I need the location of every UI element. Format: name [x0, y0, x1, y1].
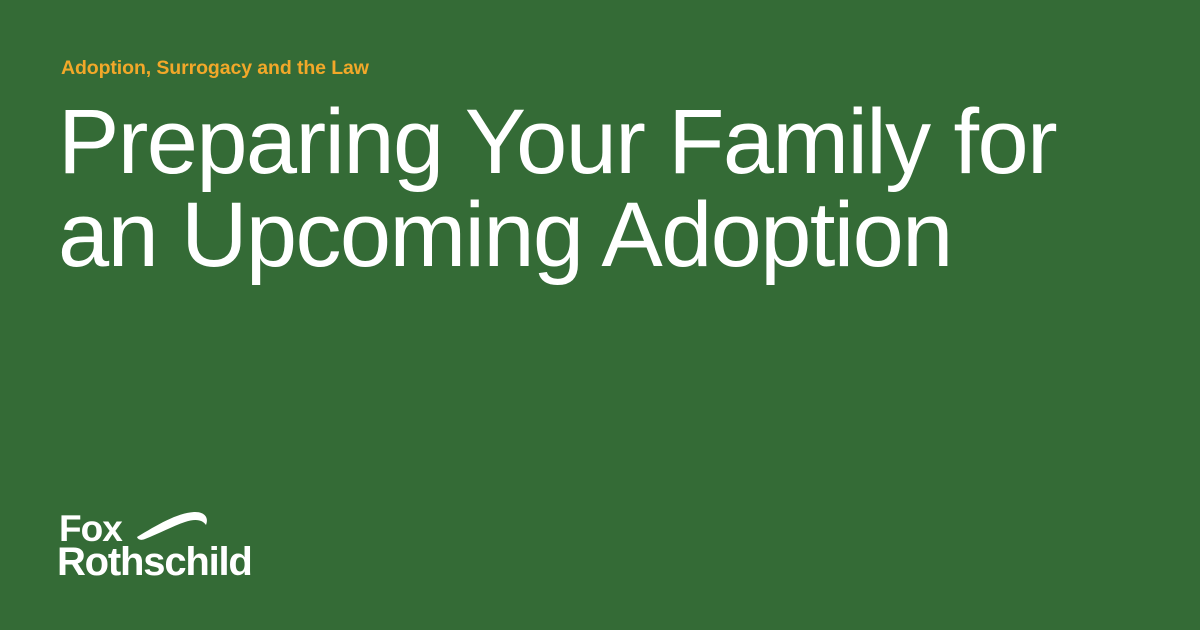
- eyebrow-category-label: Adoption, Surrogacy and the Law: [61, 58, 369, 79]
- fox-rothschild-logo: Fox Rothschild: [59, 503, 319, 579]
- page-title: Preparing Your Family for an Upcoming Ad…: [58, 96, 1168, 282]
- headline-line-1: Preparing Your Family for: [58, 96, 1168, 189]
- headline-line-2: an Upcoming Adoption: [58, 189, 1168, 282]
- logo-artwork: Fox Rothschild: [59, 503, 319, 579]
- swoosh-icon: [137, 512, 207, 540]
- social-share-card: Adoption, Surrogacy and the Law Preparin…: [0, 0, 1200, 630]
- logo-word-rothschild: Rothschild: [59, 540, 252, 579]
